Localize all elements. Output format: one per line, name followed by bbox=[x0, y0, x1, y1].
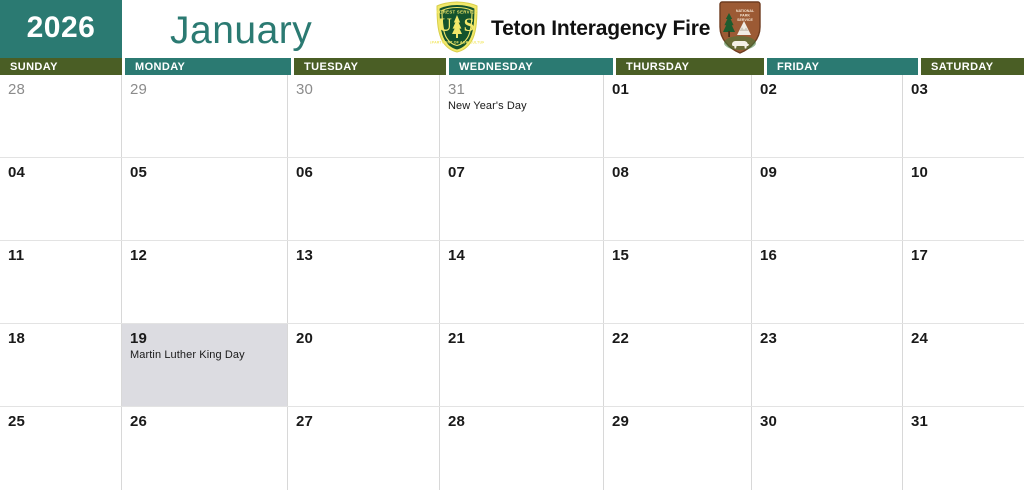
calendar-day-cell[interactable]: 23 bbox=[752, 324, 903, 406]
calendar-day-cell[interactable]: 26 bbox=[122, 407, 288, 490]
weekday-header-saturday: SATURDAY bbox=[921, 58, 1024, 75]
day-number: 24 bbox=[911, 330, 1016, 347]
day-number: 01 bbox=[612, 81, 743, 98]
calendar-day-cell[interactable]: 28 bbox=[0, 75, 122, 157]
day-number: 26 bbox=[130, 413, 279, 430]
calendar-day-cell[interactable]: 20 bbox=[288, 324, 440, 406]
day-number: 23 bbox=[760, 330, 894, 347]
calendar-day-cell[interactable]: 03 bbox=[903, 75, 1024, 157]
calendar-day-cell[interactable]: 24 bbox=[903, 324, 1024, 406]
day-event-label: New Year's Day bbox=[448, 99, 595, 113]
day-number: 21 bbox=[448, 330, 595, 347]
day-number: 18 bbox=[8, 330, 113, 347]
svg-text:U: U bbox=[438, 15, 452, 36]
day-number: 06 bbox=[296, 164, 431, 181]
calendar-day-cell[interactable]: 01 bbox=[604, 75, 752, 157]
calendar-week-row: 1819Martin Luther King Day2021222324 bbox=[0, 324, 1024, 407]
weekday-header-wednesday: WEDNESDAY bbox=[449, 58, 613, 75]
calendar-day-cell[interactable]: 12 bbox=[122, 241, 288, 323]
day-number: 11 bbox=[8, 247, 113, 264]
day-number: 29 bbox=[130, 81, 279, 98]
calendar-week-row: 28293031New Year's Day010203 bbox=[0, 75, 1024, 158]
calendar-day-cell[interactable]: 27 bbox=[288, 407, 440, 490]
day-number: 16 bbox=[760, 247, 894, 264]
calendar-day-cell[interactable]: 31 bbox=[903, 407, 1024, 490]
day-number: 31 bbox=[448, 81, 595, 98]
day-number: 09 bbox=[760, 164, 894, 181]
day-number: 08 bbox=[612, 164, 743, 181]
calendar-day-cell[interactable]: 30 bbox=[752, 407, 903, 490]
calendar-grid: 28293031New Year's Day010203040506070809… bbox=[0, 75, 1024, 492]
svg-text:FOREST SERVICE: FOREST SERVICE bbox=[436, 9, 478, 14]
calendar-day-cell[interactable]: 18 bbox=[0, 324, 122, 406]
calendar-day-cell[interactable]: 30 bbox=[288, 75, 440, 157]
day-number: 03 bbox=[911, 81, 1016, 98]
day-number: 17 bbox=[911, 247, 1016, 264]
day-number: 15 bbox=[612, 247, 743, 264]
weekday-header-tuesday: TUESDAY bbox=[294, 58, 446, 75]
day-number: 30 bbox=[760, 413, 894, 430]
calendar-day-cell[interactable]: 19Martin Luther King Day bbox=[122, 324, 288, 406]
day-number: 02 bbox=[760, 81, 894, 98]
calendar-day-cell[interactable]: 10 bbox=[903, 158, 1024, 240]
weekday-header-thursday: THURSDAY bbox=[616, 58, 764, 75]
calendar-banner: 2026 January FOREST SERVICE U S DEPARTME… bbox=[0, 0, 1024, 58]
calendar-day-cell[interactable]: 08 bbox=[604, 158, 752, 240]
year-label: 2026 bbox=[27, 13, 96, 45]
month-title: January bbox=[170, 8, 312, 54]
calendar-day-cell[interactable]: 15 bbox=[604, 241, 752, 323]
calendar-day-cell[interactable]: 06 bbox=[288, 158, 440, 240]
agency-branding: FOREST SERVICE U S DEPARTMENT OF AGRICUL… bbox=[430, 0, 763, 58]
calendar-week-row: 11121314151617 bbox=[0, 241, 1024, 324]
weekday-header-row: SUNDAYMONDAYTUESDAYWEDNESDAYTHURSDAYFRID… bbox=[0, 58, 1024, 75]
day-number: 19 bbox=[130, 330, 279, 347]
calendar-day-cell[interactable]: 04 bbox=[0, 158, 122, 240]
weekday-header-monday: MONDAY bbox=[125, 58, 291, 75]
day-number: 04 bbox=[8, 164, 113, 181]
calendar-week-row: 04050607080910 bbox=[0, 158, 1024, 241]
calendar-day-cell[interactable]: 21 bbox=[440, 324, 604, 406]
weekday-header-sunday: SUNDAY bbox=[0, 58, 122, 75]
calendar-week-row: 25262728293031 bbox=[0, 407, 1024, 490]
calendar-day-cell[interactable]: 28 bbox=[440, 407, 604, 490]
calendar-day-cell[interactable]: 17 bbox=[903, 241, 1024, 323]
calendar-day-cell[interactable]: 11 bbox=[0, 241, 122, 323]
svg-text:DEPARTMENT OF AGRICULTURE: DEPARTMENT OF AGRICULTURE bbox=[430, 40, 484, 44]
day-number: 22 bbox=[612, 330, 743, 347]
day-number: 14 bbox=[448, 247, 595, 264]
calendar-day-cell[interactable]: 25 bbox=[0, 407, 122, 490]
weekday-header-friday: FRIDAY bbox=[767, 58, 918, 75]
day-number: 31 bbox=[911, 413, 1016, 430]
day-number: 20 bbox=[296, 330, 431, 347]
calendar-day-cell[interactable]: 07 bbox=[440, 158, 604, 240]
calendar-day-cell[interactable]: 14 bbox=[440, 241, 604, 323]
calendar-day-cell[interactable]: 02 bbox=[752, 75, 903, 157]
day-number: 05 bbox=[130, 164, 279, 181]
day-number: 07 bbox=[448, 164, 595, 181]
year-box: 2026 bbox=[0, 0, 122, 58]
calendar-day-cell[interactable]: 29 bbox=[604, 407, 752, 490]
calendar-page: 2026 January FOREST SERVICE U S DEPARTME… bbox=[0, 0, 1024, 492]
nps-arrowhead-icon: NATIONAL PARK SERVICE bbox=[717, 0, 763, 60]
day-number: 30 bbox=[296, 81, 431, 98]
day-number: 12 bbox=[130, 247, 279, 264]
day-number: 27 bbox=[296, 413, 431, 430]
calendar-day-cell[interactable]: 31New Year's Day bbox=[440, 75, 604, 157]
calendar-day-cell[interactable]: 09 bbox=[752, 158, 903, 240]
calendar-day-cell[interactable]: 22 bbox=[604, 324, 752, 406]
day-number: 25 bbox=[8, 413, 113, 430]
day-number: 28 bbox=[448, 413, 595, 430]
calendar-day-cell[interactable]: 29 bbox=[122, 75, 288, 157]
svg-text:S: S bbox=[464, 15, 475, 36]
calendar-day-cell[interactable]: 05 bbox=[122, 158, 288, 240]
day-number: 13 bbox=[296, 247, 431, 264]
svg-text:SERVICE: SERVICE bbox=[737, 18, 753, 22]
svg-text:NATIONAL: NATIONAL bbox=[736, 9, 755, 13]
day-event-label: Martin Luther King Day bbox=[130, 348, 279, 362]
day-number: 28 bbox=[8, 81, 113, 98]
calendar-day-cell[interactable]: 16 bbox=[752, 241, 903, 323]
organization-title: Teton Interagency Fire bbox=[491, 17, 710, 41]
calendar-day-cell[interactable]: 13 bbox=[288, 241, 440, 323]
day-number: 29 bbox=[612, 413, 743, 430]
usfs-shield-icon: FOREST SERVICE U S DEPARTMENT OF AGRICUL… bbox=[430, 0, 484, 59]
day-number: 10 bbox=[911, 164, 1016, 181]
svg-text:PARK: PARK bbox=[740, 13, 750, 17]
